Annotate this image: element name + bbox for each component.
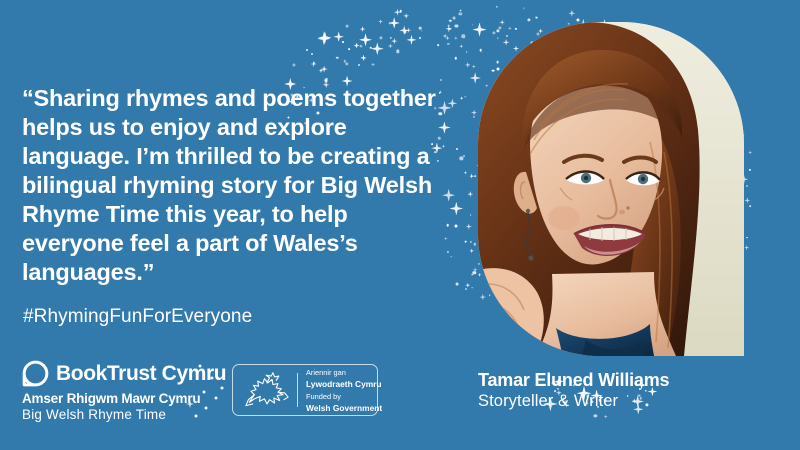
portrait-caption: Tamar Eluned Williams Storyteller & Writ…	[478, 369, 778, 412]
booktrust-tagline-english: Big Welsh Rhyme Time	[22, 407, 222, 423]
booktrust-speech-bubble-icon	[22, 360, 49, 387]
tamar-eluned-williams-portrait	[478, 22, 744, 356]
welsh-government-line-ariennir-gan: Ariennir gan	[306, 368, 382, 379]
welsh-government-text: Ariennir gan Lywodraeth Cymru Funded by …	[306, 367, 382, 413]
portrait-container	[478, 22, 744, 356]
quote-text: “Sharing rhymes and poems together helps…	[22, 84, 452, 287]
booktrust-tagline-welsh: Amser Rhigwm Mawr Cymru	[22, 391, 222, 407]
welsh-government-line-funded-by: Funded by	[306, 392, 382, 403]
welsh-government-line-lywodraeth-cymru: Lywodraeth Cymru	[306, 379, 382, 390]
promo-card: “Sharing rhymes and poems together helps…	[0, 0, 800, 450]
welsh-government-line-welsh-government: Welsh Government	[306, 403, 382, 414]
contributor-name: Tamar Eluned Williams	[478, 369, 778, 391]
welsh-government-divider	[297, 373, 298, 407]
booktrust-wordmark: BookTrust Cymru	[56, 363, 226, 384]
portrait-mask	[478, 22, 744, 356]
welsh-government-logo: Ariennir gan Lywodraeth Cymru Funded by …	[232, 364, 378, 416]
booktrust-logo-top-row: BookTrust Cymru	[22, 358, 222, 388]
welsh-dragon-icon	[241, 371, 293, 409]
booktrust-cymru-logo: BookTrust Cymru Amser Rhigwm Mawr Cymru …	[22, 358, 222, 420]
contributor-role: Storyteller & Writer	[478, 391, 778, 412]
hashtag-label: #RhymingFunForEveryone	[23, 306, 252, 328]
